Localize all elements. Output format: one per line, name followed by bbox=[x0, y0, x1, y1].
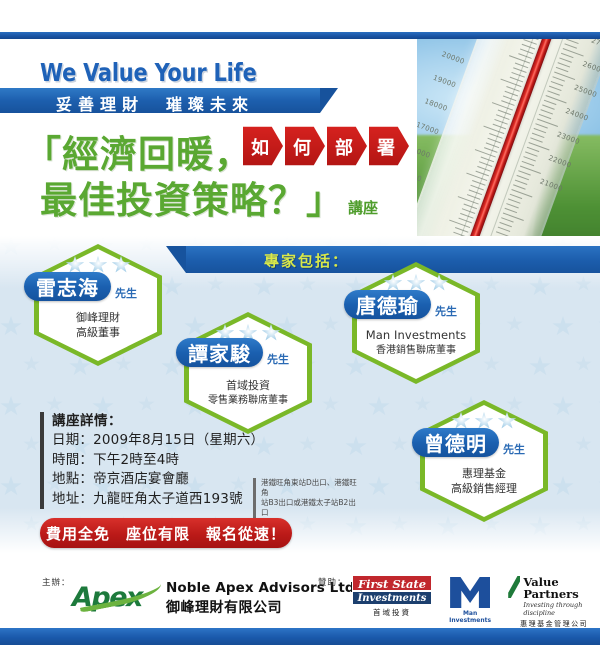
chip-3: 署 bbox=[369, 126, 409, 166]
speaker-org-line-1: 御峰理財 bbox=[34, 310, 162, 325]
star-icon bbox=[506, 316, 523, 332]
star-icon bbox=[322, 396, 339, 412]
speaker-org: 惠理基金 高級銷售經理 bbox=[420, 466, 548, 496]
star-icon bbox=[322, 316, 339, 332]
speaker-honorific: 先生 bbox=[115, 285, 137, 301]
speaker-name: 雷志海 bbox=[36, 272, 99, 301]
star-icon bbox=[46, 396, 63, 412]
speaker-org-line-1: 惠理基金 bbox=[420, 466, 548, 481]
details-time: 時間：下午2時至4時 bbox=[52, 451, 264, 471]
top-rule bbox=[0, 32, 600, 39]
star-icon bbox=[299, 436, 316, 452]
speaker-card-2: Man Investments 香港銷售聯席董事 bbox=[352, 262, 480, 384]
apex-logo: Apex bbox=[72, 580, 160, 614]
star-icon bbox=[575, 356, 592, 372]
star-icon bbox=[207, 276, 224, 292]
speaker-name-pill-0: 雷志海 先生 bbox=[24, 272, 111, 301]
value-partners-slash-icon bbox=[508, 576, 520, 598]
speaker-card-0: 御峰理財 高級董事 bbox=[34, 244, 162, 366]
tagline-ribbon: 妥善理財 璀璨未來 bbox=[0, 88, 320, 113]
poster-canvas: 2000019000180001700016000150001400013000… bbox=[0, 0, 600, 645]
headline-suffix: 講座 bbox=[348, 199, 378, 217]
man-name-cn: Man Investments bbox=[441, 610, 499, 624]
bottom-rule bbox=[0, 628, 600, 645]
star-icon bbox=[0, 316, 22, 337]
experts-banner-label: 專家包括： bbox=[264, 250, 349, 271]
star-icon bbox=[345, 436, 367, 457]
star-icon bbox=[552, 396, 574, 417]
value-partners-lockup: Value Partners Investing through discipl… bbox=[508, 576, 600, 617]
star-icon bbox=[483, 276, 500, 292]
speaker-honorific: 先生 bbox=[503, 441, 525, 457]
details-venue: 地點：帝京酒店宴會廳 bbox=[52, 470, 264, 490]
speaker-org-line-2: 高級董事 bbox=[34, 325, 162, 340]
organiser-label: 主辦： bbox=[42, 576, 71, 588]
tagline-english: We Value Your Life bbox=[40, 58, 257, 87]
speaker-name-pill-2: 唐德瑜 先生 bbox=[344, 290, 431, 319]
chip-1: 何 bbox=[285, 126, 325, 166]
star-icon bbox=[368, 396, 390, 417]
chip-label: 署 bbox=[371, 134, 401, 160]
star-icon bbox=[391, 436, 408, 452]
speaker-org-line-2: 香港銷售聯席董事 bbox=[352, 343, 480, 358]
speaker-org-line-1: Man Investments bbox=[352, 328, 480, 343]
star-icon bbox=[92, 556, 114, 566]
star-icon bbox=[0, 396, 22, 417]
speaker-org-line-2: 高級銷售經理 bbox=[420, 481, 548, 496]
speaker-honorific: 先生 bbox=[435, 303, 457, 319]
sponsor-first-state: First State Investments 首域投資 bbox=[352, 575, 432, 618]
details-title: 講座詳情： bbox=[52, 412, 264, 431]
headline-line-2: 最佳投資策略？」講座 bbox=[40, 170, 378, 224]
speaker-org-line-2: 零售業務聯席董事 bbox=[184, 393, 312, 408]
man-logo-icon bbox=[450, 577, 490, 608]
star-icon bbox=[575, 276, 592, 292]
speaker-name: 譚家駿 bbox=[188, 338, 251, 367]
star-icon bbox=[552, 316, 574, 337]
star-icon bbox=[184, 556, 206, 566]
star-icon bbox=[506, 556, 523, 566]
speaker-org: Man Investments 香港銷售聯席董事 bbox=[352, 328, 480, 358]
star-icon bbox=[23, 436, 40, 452]
sponsor-logos: First State Investments 首域投資 Man Investm… bbox=[352, 575, 600, 629]
chip-label: 部 bbox=[329, 134, 359, 160]
star-icon bbox=[368, 476, 390, 497]
star-icon bbox=[112, 256, 131, 274]
cta-label: 費用全免 座位有限 報名從速！ bbox=[40, 523, 292, 544]
star-icon bbox=[138, 396, 155, 412]
star-icon bbox=[0, 476, 22, 497]
chip-0: 如 bbox=[243, 126, 283, 166]
star-icon bbox=[299, 516, 316, 532]
star-icon bbox=[276, 556, 298, 566]
tagline-chinese: 妥善理財 璀璨未來 bbox=[56, 91, 254, 115]
star-icon bbox=[262, 324, 281, 342]
first-state-name-cn: 首域投資 bbox=[352, 607, 432, 618]
star-icon bbox=[299, 276, 316, 292]
speaker-name: 曾德明 bbox=[424, 428, 487, 457]
speaker-honorific: 先生 bbox=[267, 351, 289, 367]
star-icon bbox=[253, 276, 275, 297]
chip-label: 何 bbox=[287, 134, 317, 160]
sponsor-label: 贊助： bbox=[318, 576, 347, 588]
star-icon bbox=[552, 476, 574, 497]
cta-banner[interactable]: 費用全免 座位有限 報名從速！ bbox=[40, 518, 292, 548]
star-icon bbox=[552, 556, 574, 566]
star-icon bbox=[46, 556, 63, 566]
value-partners-name: Value Partners bbox=[523, 576, 600, 600]
seminar-details: 講座詳情： 日期：2009年8月15日（星期六） 時間：下午2時至4時 地點：帝… bbox=[40, 412, 264, 509]
first-state-name-2: Investments bbox=[352, 591, 432, 605]
speaker-org: 首域投資 零售業務聯席董事 bbox=[184, 378, 312, 408]
star-icon bbox=[498, 412, 517, 430]
chip-2: 部 bbox=[327, 126, 367, 166]
details-address: 地址：九龍旺角太子道西193號 bbox=[52, 490, 264, 510]
speaker-card-3: 惠理基金 高級銷售經理 bbox=[420, 400, 548, 522]
star-icon bbox=[430, 274, 449, 292]
star-icon bbox=[368, 556, 390, 566]
speaker-name: 唐德瑜 bbox=[356, 290, 419, 319]
details-date: 日期：2009年8月15日（星期六） bbox=[52, 431, 264, 451]
speaker-org-line-1: 首域投資 bbox=[184, 378, 312, 393]
speaker-name-pill-3: 曾德明 先生 bbox=[412, 428, 499, 457]
transit-line-2: 站B3出口或港鐵太子站B2出口 bbox=[261, 498, 358, 518]
thermometer-photo: 2000019000180001700016000150001400013000… bbox=[417, 39, 600, 236]
star-icon bbox=[322, 556, 339, 566]
star-icon bbox=[575, 436, 592, 452]
star-icon bbox=[0, 556, 22, 566]
value-partners-tagline: Investing through discipline bbox=[523, 601, 600, 617]
headline-chips: 如 何 部 署 bbox=[243, 126, 411, 166]
star-icon bbox=[460, 556, 482, 566]
sponsor-value-partners: Value Partners Investing through discipl… bbox=[508, 576, 600, 629]
star-icon bbox=[391, 516, 408, 532]
organiser-name-zh: 御峰理財有限公司 bbox=[166, 597, 360, 617]
star-icon bbox=[138, 556, 155, 566]
star-icon bbox=[23, 516, 40, 532]
star-icon bbox=[0, 236, 22, 257]
star-icon bbox=[529, 356, 551, 377]
first-state-name-1: First State bbox=[352, 575, 432, 591]
star-icon bbox=[414, 556, 431, 566]
star-icon bbox=[575, 516, 592, 532]
chip-label: 如 bbox=[245, 134, 275, 160]
star-icon bbox=[161, 276, 183, 297]
sponsor-man-investments: Man Investments bbox=[441, 577, 499, 624]
star-icon bbox=[345, 516, 367, 537]
star-icon bbox=[483, 356, 500, 372]
headline-text-2: 最佳投資策略？」 bbox=[40, 179, 344, 222]
star-icon bbox=[529, 276, 551, 297]
speaker-org: 御峰理財 高級董事 bbox=[34, 310, 162, 340]
speaker-name-pill-1: 譚家駿 先生 bbox=[176, 338, 263, 367]
transit-note: 港鐵旺角東站D出口、港鐵旺角 站B3出口或港鐵太子站B2出口 bbox=[253, 478, 358, 518]
star-icon bbox=[230, 556, 247, 566]
transit-line-1: 港鐵旺角東站D出口、港鐵旺角 bbox=[261, 478, 358, 498]
